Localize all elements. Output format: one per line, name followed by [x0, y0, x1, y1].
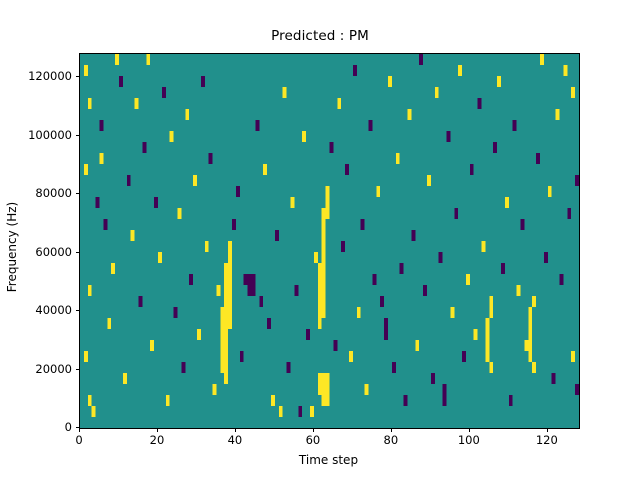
x-tick-mark: [235, 428, 236, 432]
y-tick-mark: [76, 427, 80, 428]
figure-canvas: Predicted : PM 020406080100120 020000400…: [0, 0, 640, 480]
x-tick-label: 20: [150, 433, 165, 447]
y-tick-mark: [76, 135, 80, 136]
y-tick-label: 120000: [28, 69, 72, 83]
x-axis-label: Time step: [79, 453, 578, 467]
heatmap-plot-area[interactable]: [79, 53, 580, 429]
y-tick-mark: [76, 252, 80, 253]
chart-title: Predicted : PM: [0, 28, 640, 44]
y-tick-mark: [76, 310, 80, 311]
x-tick-label: 40: [228, 433, 243, 447]
y-tick-label: 40000: [35, 303, 72, 317]
x-tick-label: 80: [384, 433, 399, 447]
x-tick-mark: [313, 428, 314, 432]
x-tick-label: 100: [458, 433, 480, 447]
x-tick-mark: [391, 428, 392, 432]
y-tick-label: 80000: [35, 186, 72, 200]
y-tick-mark: [76, 193, 80, 194]
x-tick-label: 60: [306, 433, 321, 447]
y-tick-mark: [76, 369, 80, 370]
y-axis-label: Frequency (Hz): [5, 187, 19, 307]
x-tick-mark: [79, 428, 80, 432]
y-tick-label: 20000: [35, 362, 72, 376]
x-tick-label: 120: [536, 433, 558, 447]
y-tick-label: 60000: [35, 245, 72, 259]
x-tick-mark: [157, 428, 158, 432]
x-tick-mark: [547, 428, 548, 432]
y-tick-mark: [76, 76, 80, 77]
heatmap-image: [80, 54, 579, 428]
y-tick-label: 100000: [28, 128, 72, 142]
y-tick-label: 0: [65, 420, 72, 434]
x-tick-mark: [469, 428, 470, 432]
x-tick-label: 0: [75, 433, 82, 447]
